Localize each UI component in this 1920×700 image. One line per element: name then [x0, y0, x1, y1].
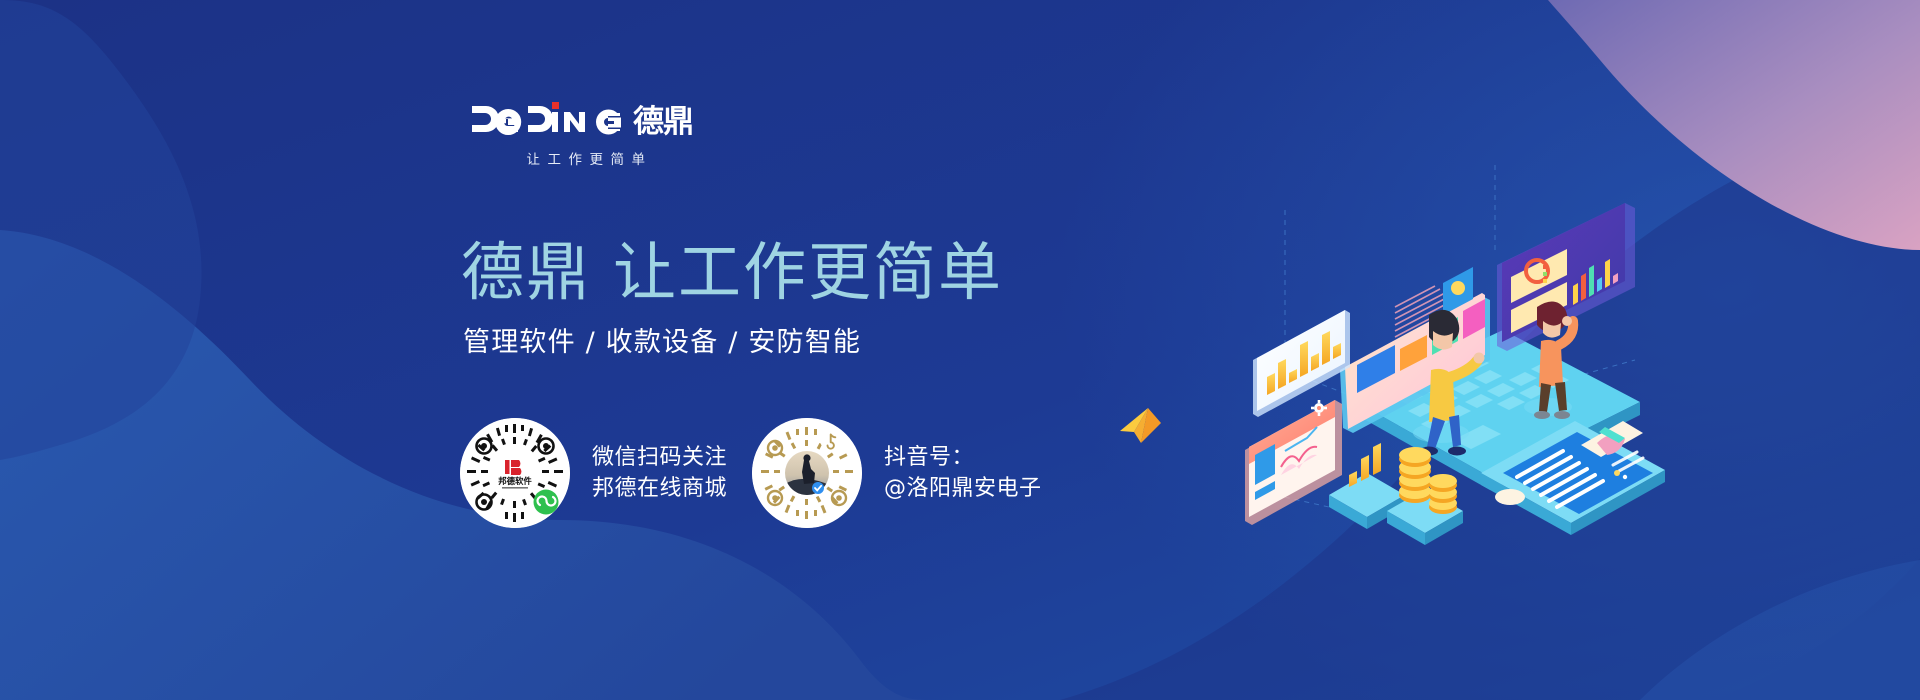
douyin-avatar	[785, 451, 829, 495]
isometric-analytics-illustration	[1245, 155, 1665, 545]
qr-group-wechat[interactable]: 邦德软件 微信扫码关注 邦德在线商城	[460, 418, 727, 528]
wechat-qr-caption: 微信扫码关注 邦德在线商城	[592, 442, 727, 504]
logo-tagline: 让工作更简单	[472, 148, 702, 168]
wechat-mini-program-badge	[534, 490, 559, 515]
dashboard-panel-purple	[1497, 203, 1635, 351]
verified-badge-icon	[812, 482, 824, 494]
svg-text:邦德软件: 邦德软件	[498, 476, 532, 486]
hero-headline: 德鼎 让工作更简单	[461, 237, 1003, 309]
douyin-caption-line2: @洛阳鼎安电子	[884, 473, 1042, 504]
logo-row: 德鼎	[472, 98, 702, 138]
douyin-qr-code[interactable]	[752, 418, 862, 528]
wechat-qr-code[interactable]: 邦德软件	[460, 418, 570, 528]
douyin-note-icon	[820, 430, 840, 450]
wechat-caption-line1: 微信扫码关注	[592, 445, 727, 470]
promo-banner: 德鼎 让工作更简单 德鼎 让工作更简单 管理软件 / 收款设备 / 安防智能	[0, 0, 1920, 700]
hero-subheadline: 管理软件 / 收款设备 / 安防智能	[463, 325, 861, 361]
douyin-caption-line1: 抖音号：	[884, 445, 974, 470]
paper-plane-icon	[1118, 405, 1164, 447]
deding-wordmark-icon	[472, 100, 622, 138]
logo-accent-dot	[552, 102, 559, 109]
wechat-caption-line2: 邦德在线商城	[592, 473, 727, 504]
douyin-qr-caption: 抖音号： @洛阳鼎安电子	[884, 442, 1042, 504]
qr-group-douyin[interactable]: 抖音号： @洛阳鼎安电子	[752, 418, 1042, 528]
brand-logo[interactable]: 德鼎 让工作更简单	[472, 98, 702, 168]
logo-chinese-name: 德鼎	[633, 107, 693, 138]
